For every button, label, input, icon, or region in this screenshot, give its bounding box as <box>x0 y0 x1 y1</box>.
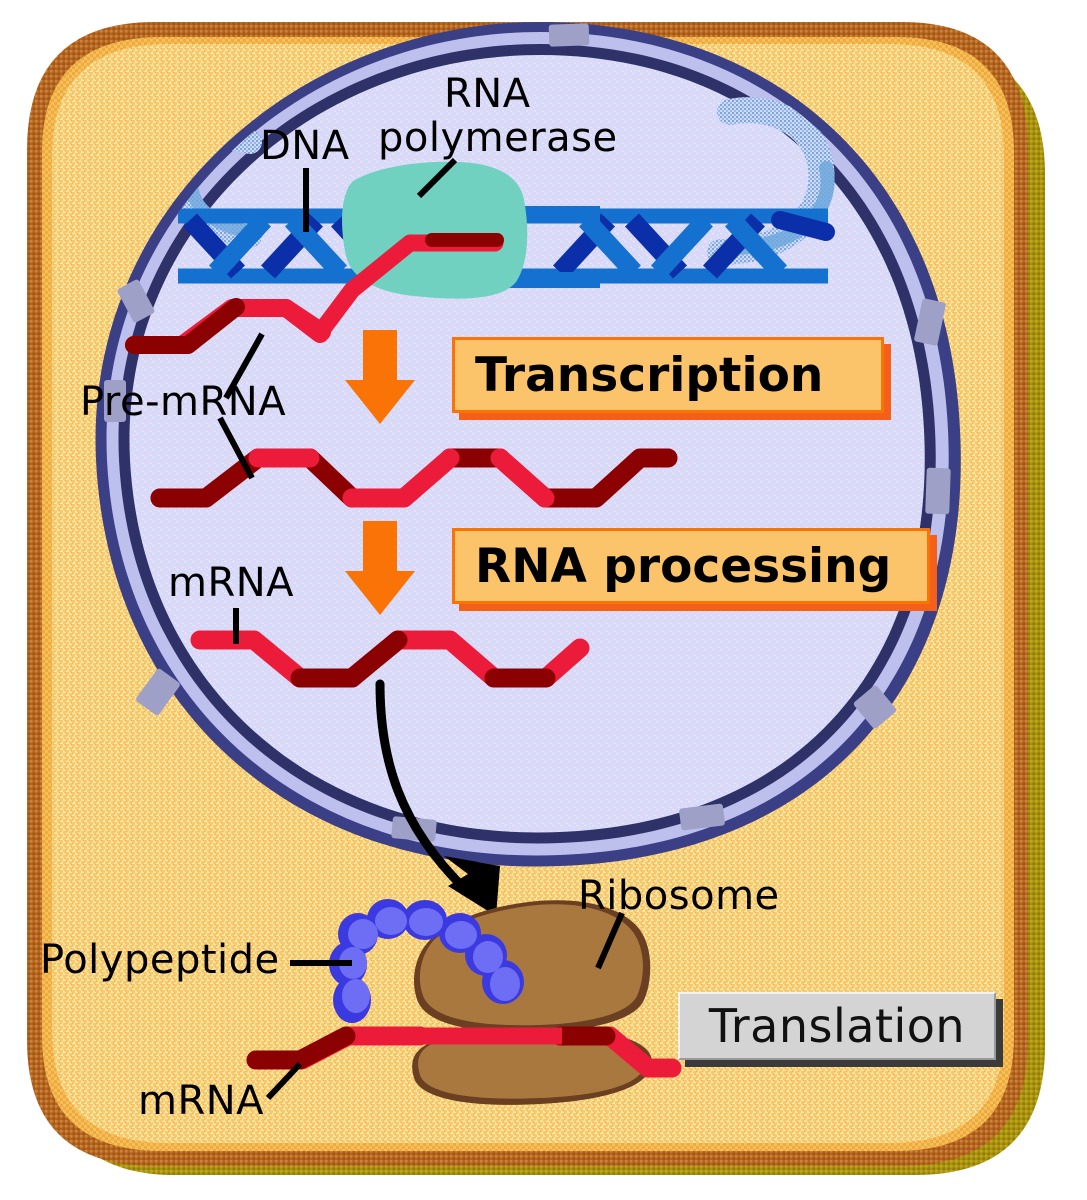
label-mrna-cytoplasm: mRNA <box>138 1081 264 1121</box>
label-mrna-nucleus: mRNA <box>168 563 294 603</box>
label-pre-mrna: Pre-mRNA <box>80 382 286 422</box>
process-box-transcription-label: Transcription <box>475 352 823 399</box>
process-box-rna-processing[interactable]: RNA processing <box>452 528 930 604</box>
process-box-translation-label: Translation <box>709 999 965 1053</box>
label-rna-polymerase-line1: RNA <box>444 74 531 114</box>
process-box-transcription[interactable]: Transcription <box>452 337 884 413</box>
process-box-translation[interactable]: Translation <box>678 992 996 1060</box>
label-ribosome: Ribosome <box>578 876 780 916</box>
label-dna: DNA <box>260 126 350 166</box>
label-polypeptide: Polypeptide <box>40 940 280 980</box>
label-rna-polymerase-line2: polymerase <box>378 118 618 158</box>
cell-diagram-canvas: DNA RNA polymerase Pre-mRNA mRNA Ribosom… <box>0 0 1087 1200</box>
process-box-rna-processing-label: RNA processing <box>475 543 891 590</box>
